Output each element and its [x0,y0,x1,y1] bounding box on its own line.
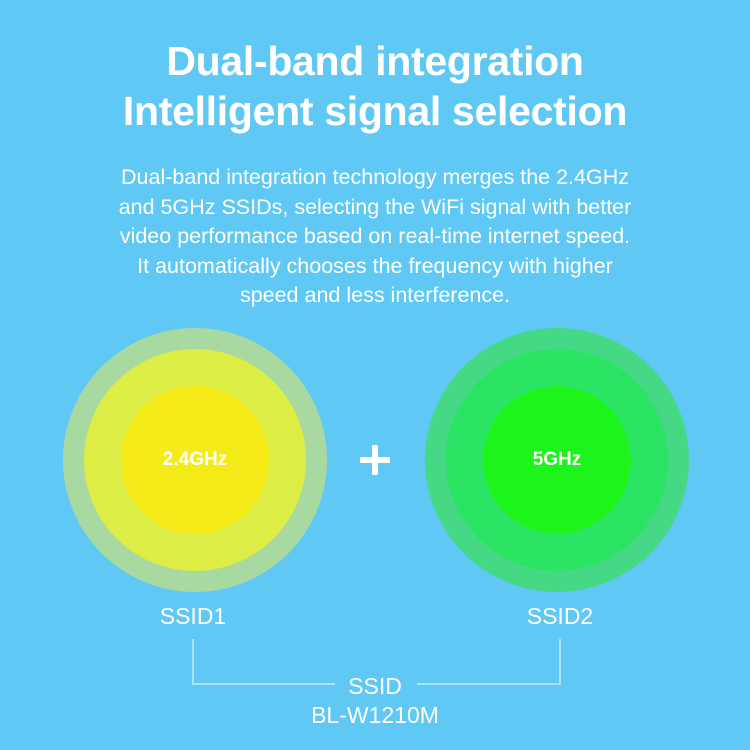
signal-circle-group-5ghz: 5GHz [425,328,689,592]
ssid-label-right: SSID2 [480,603,640,630]
heading-line-1: Dual-band integration [0,36,750,86]
plus-icon [360,445,390,475]
ssid-label-left: SSID1 [113,603,273,630]
description-line-2: and 5GHz SSIDs, selecting the WiFi signa… [0,193,750,223]
band-label-5ghz: 5GHz [533,449,582,471]
promo-graphic: Dual-band integration Intelligent signal… [0,0,750,750]
merged-ssid-name: BL-W1210M [0,701,750,730]
merged-ssid-title: SSID [0,672,750,701]
description-line-3: video performance based on real-time int… [0,222,750,252]
band-label-2-4ghz: 2.4GHz [163,449,227,471]
signal-circle-group-2-4ghz: 2.4GHz [63,328,327,592]
page-title: Dual-band integration Intelligent signal… [0,36,750,136]
description-line-4: It automatically chooses the frequency w… [0,252,750,282]
merged-ssid-block: SSID BL-W1210M [0,672,750,730]
description-line-5: speed and less interference. [0,281,750,311]
description-paragraph: Dual-band integration technology merges … [0,163,750,311]
description-line-1: Dual-band integration technology merges … [0,163,750,193]
heading-line-2: Intelligent signal selection [0,86,750,136]
